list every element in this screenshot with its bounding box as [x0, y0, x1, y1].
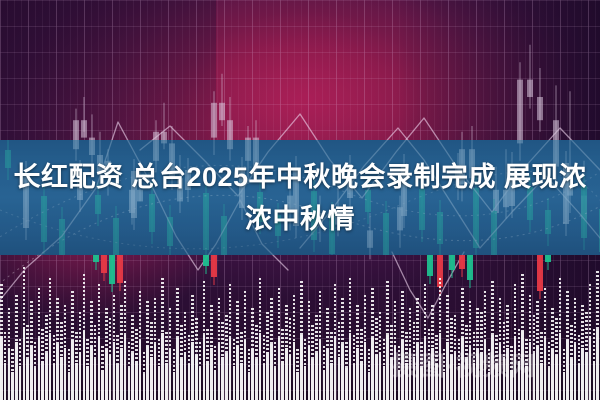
volume-bar-solid — [161, 333, 164, 400]
volume-bar-dotted — [383, 339, 386, 366]
volume-bar-dotted — [218, 298, 221, 344]
volume-bar — [229, 284, 232, 400]
volume-bar-dotted — [26, 325, 29, 359]
volume-bar-solid — [293, 342, 296, 400]
volume-bar-solid — [285, 348, 288, 400]
volume-bar-solid — [83, 331, 86, 400]
volume-bar — [19, 339, 22, 400]
volume-bar — [248, 349, 251, 400]
volume-bar-dotted — [0, 284, 3, 336]
volume-bar-solid — [120, 348, 123, 400]
volume-bar-solid — [386, 335, 389, 400]
volume-bar — [251, 308, 254, 400]
volume-bar — [68, 349, 71, 400]
volume-bar — [326, 308, 329, 400]
volume-bar-dotted — [315, 315, 318, 353]
volume-bar-dotted — [345, 342, 348, 368]
volume-bar-solid — [349, 333, 352, 400]
volume-bar — [225, 315, 228, 400]
volume-bar-dotted — [334, 284, 337, 336]
volume-bar-dotted — [176, 288, 179, 338]
volume-bar — [593, 329, 596, 400]
volume-bar-solid — [248, 372, 251, 400]
volume-bar-dotted — [251, 308, 254, 349]
volume-bar-solid — [150, 357, 153, 400]
volume-bar — [266, 312, 269, 400]
volume-bar — [161, 278, 164, 400]
volume-bar-solid — [30, 346, 33, 400]
volume-bar-dotted — [330, 332, 333, 363]
volume-bar-dotted — [274, 342, 277, 368]
volume-bar-solid — [75, 363, 78, 400]
volume-bar-solid — [146, 346, 149, 400]
volume-bar — [113, 295, 116, 400]
volume-bar-dotted — [83, 274, 86, 331]
volume-bar-dotted — [551, 308, 554, 349]
volume-bar-dotted — [60, 322, 63, 357]
volume-bar — [311, 325, 314, 400]
volume-bar-solid — [169, 349, 172, 400]
volume-bar-dotted — [229, 284, 232, 336]
volume-bar-solid — [323, 370, 326, 400]
volume-bar — [135, 329, 138, 400]
volume-bar-dotted — [56, 298, 59, 344]
volume-bar — [90, 301, 93, 400]
volume-bar-solid — [128, 368, 131, 400]
volume-bar-solid — [315, 353, 318, 400]
volume-bar-solid — [184, 352, 187, 400]
volume-bar — [296, 349, 299, 400]
volume-bar-solid — [90, 346, 93, 400]
volume-bar-solid — [596, 329, 599, 400]
volume-bar-dotted — [206, 329, 209, 361]
volume-bar-dotted — [98, 284, 101, 336]
volume-bar-dotted — [139, 291, 142, 340]
volume-bar — [139, 291, 142, 400]
volume-bar-dotted — [68, 349, 71, 372]
volume-bar-solid — [214, 370, 217, 400]
volume-bar-solid — [79, 352, 82, 400]
volume-bar-dotted — [289, 318, 292, 355]
volume-bar-dotted — [278, 288, 281, 338]
volume-bar — [383, 339, 386, 400]
volume-bar-dotted — [566, 291, 569, 340]
volume-bar — [131, 315, 134, 400]
volume-bar-solid — [345, 368, 348, 400]
volume-bar-solid — [206, 361, 209, 400]
volume-bar — [255, 325, 258, 400]
volume-bar-dotted — [439, 278, 442, 333]
volume-bar-dotted — [349, 278, 352, 333]
volume-bar — [218, 298, 221, 400]
volume-bar-solid — [225, 353, 228, 400]
volume-bar-dotted — [581, 305, 584, 348]
volume-bar-solid — [330, 363, 333, 400]
volume-bar-solid — [266, 352, 269, 400]
volume-bar — [49, 278, 52, 400]
volume-bar — [158, 339, 161, 400]
volume-bar — [176, 288, 179, 400]
volume-bar-solid — [229, 336, 232, 400]
volume-bar — [169, 308, 172, 400]
volume-bar-dotted — [353, 335, 356, 364]
volume-bar-dotted — [184, 312, 187, 352]
volume-bar-dotted — [394, 301, 397, 346]
volume-bar — [263, 335, 266, 400]
volume-bar-solid — [296, 372, 299, 400]
volume-bar — [30, 301, 33, 400]
volume-bar-solid — [53, 364, 56, 400]
volume-bar — [371, 288, 374, 400]
volume-bar — [233, 339, 236, 400]
volume-bar-solid — [41, 361, 44, 400]
volume-bar — [195, 318, 198, 400]
volume-bar — [379, 312, 382, 400]
volume-bar-dotted — [19, 339, 22, 366]
volume-bar-dotted — [596, 271, 599, 329]
volume-bar-solid — [188, 364, 191, 400]
volume-bar-solid — [154, 344, 157, 400]
volume-bar — [330, 332, 333, 400]
volume-bar — [349, 278, 352, 400]
volume-bar — [199, 342, 202, 400]
volume-bar-solid — [244, 340, 247, 400]
volume-bar-dotted — [401, 291, 404, 340]
banner-title-block: 长红配资 总台2025年中秋晚会录制完成 展现浓 浓中秋情 — [0, 140, 600, 255]
volume-bar-solid — [45, 353, 48, 400]
volume-bar-dotted — [521, 274, 524, 331]
volume-bar — [184, 312, 187, 400]
volume-bar-solid — [68, 372, 71, 400]
volume-bar-solid — [116, 364, 119, 400]
volume-bar-solid — [139, 340, 142, 400]
volume-bar-dotted — [221, 322, 224, 357]
volume-bar — [188, 335, 191, 400]
volume-bar-solid — [319, 340, 322, 400]
volume-bar-solid — [165, 363, 168, 400]
volume-bar-dotted — [53, 335, 56, 364]
volume-bar-dotted — [461, 288, 464, 338]
volume-bar-solid — [289, 355, 292, 400]
volume-bar — [94, 325, 97, 400]
volume-bar-solid — [158, 366, 161, 400]
volume-bar-solid — [210, 348, 213, 400]
volume-bar-solid — [221, 357, 224, 400]
volume-bar — [15, 295, 18, 400]
volume-bar-dotted — [341, 298, 344, 344]
volume-bar-dotted — [536, 301, 539, 346]
volume-bar — [23, 267, 26, 400]
volume-bar — [71, 291, 74, 400]
volume-bar-dotted — [281, 329, 284, 361]
volume-bar-dotted — [446, 295, 449, 342]
volume-bar-dotted — [113, 295, 116, 342]
volume-bar — [128, 342, 131, 400]
volume-bar-dotted — [169, 308, 172, 349]
volume-bar-solid — [371, 338, 374, 400]
volume-bar-dotted — [120, 305, 123, 348]
volume-bar-dotted — [266, 312, 269, 352]
volume-bar — [45, 315, 48, 400]
volume-bar-dotted — [244, 291, 247, 340]
volume-bar-solid — [4, 363, 7, 400]
volume-bar-solid — [368, 372, 371, 400]
volume-bar — [165, 332, 168, 400]
volume-bar-dotted — [319, 291, 322, 340]
volume-bar-dotted — [480, 312, 483, 352]
volume-bar — [8, 308, 11, 400]
volume-bar — [79, 312, 82, 400]
volume-bar-solid — [34, 368, 37, 400]
volume-bar-dotted — [259, 278, 262, 333]
volume-bar — [293, 295, 296, 400]
volume-bar — [98, 284, 101, 400]
volume-bar-solid — [334, 336, 337, 400]
volume-bar-dotted — [263, 335, 266, 364]
volume-bar-dotted — [379, 312, 382, 352]
volume-bar-solid — [26, 359, 29, 400]
volume-bar-dotted — [469, 301, 472, 346]
volume-bar — [360, 329, 363, 400]
volume-bar-dotted — [559, 278, 562, 333]
chart-banner-canvas: 长红配资 总台2025年中秋晚会录制完成 展现浓 浓中秋情 摄图·视频网 — [0, 0, 600, 400]
volume-bar — [278, 288, 281, 400]
volume-bar-solid — [203, 335, 206, 400]
volume-bar — [180, 325, 183, 400]
watermark-text: 摄图·视频网 — [392, 348, 592, 384]
volume-bar-dotted — [158, 339, 161, 366]
volume-bar-dotted — [233, 339, 236, 366]
volume-bar — [26, 325, 29, 400]
volume-bar-solid — [199, 368, 202, 400]
volume-bar-dotted — [499, 298, 502, 344]
volume-bar-dotted — [94, 325, 97, 359]
volume-bar — [146, 301, 149, 400]
volume-bar-solid — [341, 344, 344, 400]
volume-bar-dotted — [386, 281, 389, 335]
volume-bar — [244, 291, 247, 400]
volume-bar-solid — [353, 364, 356, 400]
volume-bar — [124, 281, 127, 400]
volume-bar-dotted — [105, 308, 108, 349]
volume-bar-dotted — [589, 284, 592, 336]
volume-bar-dotted — [128, 342, 131, 368]
volume-bar — [191, 295, 194, 400]
volume-bar — [214, 346, 217, 400]
volume-bar — [75, 332, 78, 400]
volume-bar-dotted — [491, 281, 494, 335]
volume-bar-dotted — [150, 322, 153, 357]
volume-bar-dotted — [71, 291, 74, 340]
volume-bar — [83, 274, 86, 400]
volume-bar-solid — [105, 349, 108, 400]
volume-bar-solid — [300, 335, 303, 400]
volume-bar-dotted — [304, 339, 307, 366]
volume-bar — [210, 305, 213, 400]
volume-bar-solid — [278, 338, 281, 400]
volume-bar — [173, 349, 176, 400]
volume-bar-dotted — [360, 329, 363, 361]
volume-bar-dotted — [323, 346, 326, 370]
volume-bar-dotted — [146, 301, 149, 346]
volume-bar-solid — [326, 349, 329, 400]
volume-bar — [338, 322, 341, 400]
volume-bar-solid — [360, 361, 363, 400]
volume-bar — [86, 339, 89, 400]
volume-bar — [0, 284, 3, 400]
volume-bar — [368, 349, 371, 400]
volume-bar-solid — [304, 366, 307, 400]
volume-bar-solid — [94, 359, 97, 400]
volume-bar — [304, 339, 307, 400]
volume-bar-solid — [19, 366, 22, 400]
volume-bar-dotted — [506, 305, 509, 348]
volume-bar-solid — [191, 342, 194, 400]
volume-bar-dotted — [203, 281, 206, 335]
volume-bar-dotted — [371, 288, 374, 338]
volume-bar-dotted — [424, 284, 427, 336]
volume-bar-solid — [311, 359, 314, 400]
volume-bar-dotted — [293, 295, 296, 342]
volume-bar-solid — [180, 359, 183, 400]
volume-bar-dotted — [529, 295, 532, 342]
volume-bar-dotted — [300, 281, 303, 335]
volume-bar-solid — [56, 344, 59, 400]
volume-bar-solid — [195, 355, 198, 400]
volume-bar-dotted — [30, 301, 33, 346]
volume-bar-solid — [236, 346, 239, 400]
volume-bar-dotted — [308, 301, 311, 346]
banner-title-line-2: 浓中秋情 — [245, 199, 355, 239]
volume-bar — [270, 298, 273, 400]
volume-bar — [319, 291, 322, 400]
volume-bar-solid — [281, 361, 284, 400]
volume-bar — [300, 281, 303, 400]
volume-bar-dotted — [356, 305, 359, 348]
volume-bar-dotted — [296, 349, 299, 372]
volume-bar-dotted — [593, 329, 596, 361]
volume-bar-solid — [98, 336, 101, 400]
volume-bar-solid — [379, 352, 382, 400]
volume-bar-solid — [593, 361, 596, 400]
volume-bar-dotted — [173, 349, 176, 372]
volume-bar — [596, 271, 599, 400]
volume-bar-dotted — [364, 295, 367, 342]
volume-bar-dotted — [285, 305, 288, 348]
volume-bar-dotted — [270, 298, 273, 344]
volume-bar-solid — [8, 349, 11, 400]
volume-bar-solid — [251, 349, 254, 400]
volume-bar — [120, 305, 123, 400]
volume-bar — [341, 298, 344, 400]
volume-bar-dotted — [38, 288, 41, 338]
volume-bar-dotted — [8, 308, 11, 349]
volume-bar-solid — [375, 355, 378, 400]
volume-bar-dotted — [311, 325, 314, 359]
volume-bar-dotted — [214, 346, 217, 370]
volume-bar — [38, 288, 41, 400]
volume-bar — [34, 342, 37, 400]
volume-bar-solid — [15, 342, 18, 400]
volume-bar-solid — [64, 348, 67, 400]
volume-bar-solid — [11, 372, 14, 400]
volume-bar-dotted — [109, 318, 112, 355]
volume-bar-dotted — [154, 298, 157, 344]
volume-bar-solid — [255, 359, 258, 400]
volume-bar-dotted — [15, 295, 18, 342]
volume-bar-solid — [131, 353, 134, 400]
volume-bar-dotted — [225, 315, 228, 353]
volume-bar — [56, 298, 59, 400]
volume-bar-dotted — [165, 332, 168, 363]
volume-bar — [289, 318, 292, 400]
volume-bar-dotted — [368, 349, 371, 372]
volume-bar-dotted — [135, 329, 138, 361]
volume-bar — [150, 322, 153, 400]
volume-bar-dotted — [41, 329, 44, 361]
volume-bar-dotted — [210, 305, 213, 348]
volume-bar-dotted — [75, 332, 78, 363]
volume-bar-solid — [113, 342, 116, 400]
volume-bar — [221, 322, 224, 400]
volume-bar-dotted — [101, 346, 104, 370]
volume-bar-solid — [383, 366, 386, 400]
volume-bar — [315, 315, 318, 400]
volume-bar-dotted — [326, 308, 329, 349]
volume-bar — [323, 346, 326, 400]
volume-bar — [386, 281, 389, 400]
volume-bar-dotted — [45, 315, 48, 353]
volume-bar — [105, 308, 108, 400]
volume-bar-dotted — [116, 335, 119, 364]
volume-bar — [240, 332, 243, 400]
volume-bar — [116, 335, 119, 400]
volume-bar-dotted — [49, 278, 52, 333]
volume-bar-solid — [263, 364, 266, 400]
volume-bar-dotted — [248, 349, 251, 372]
volume-bar-dotted — [514, 284, 517, 336]
volume-bar-dotted — [375, 318, 378, 355]
volume-bar-dotted — [131, 315, 134, 353]
volume-bar-dotted — [143, 352, 146, 374]
volume-bar-solid — [109, 355, 112, 400]
volume-bar — [60, 322, 63, 400]
volume-bar — [345, 342, 348, 400]
volume-bar — [334, 284, 337, 400]
volume-bar-dotted — [585, 312, 588, 352]
volume-bar-dotted — [161, 278, 164, 333]
volume-bar-solid — [270, 344, 273, 400]
volume-bar — [101, 346, 104, 400]
volume-bar — [375, 318, 378, 400]
volume-bar-solid — [101, 370, 104, 400]
volume-bar-dotted — [4, 332, 7, 363]
volume-bar-solid — [124, 335, 127, 400]
volume-bar-solid — [143, 374, 146, 400]
volume-bar — [274, 342, 277, 400]
volume-bar-solid — [364, 342, 367, 400]
volume-bar-dotted — [124, 281, 127, 335]
volume-bar-dotted — [90, 301, 93, 346]
volume-bar-dotted — [180, 325, 183, 359]
volume-bar — [143, 352, 146, 400]
volume-bar-dotted — [191, 295, 194, 342]
volume-bar — [259, 278, 262, 400]
volume-bar — [308, 301, 311, 400]
volume-bar-solid — [338, 357, 341, 400]
volume-bar-dotted — [86, 339, 89, 366]
volume-bar — [356, 305, 359, 400]
